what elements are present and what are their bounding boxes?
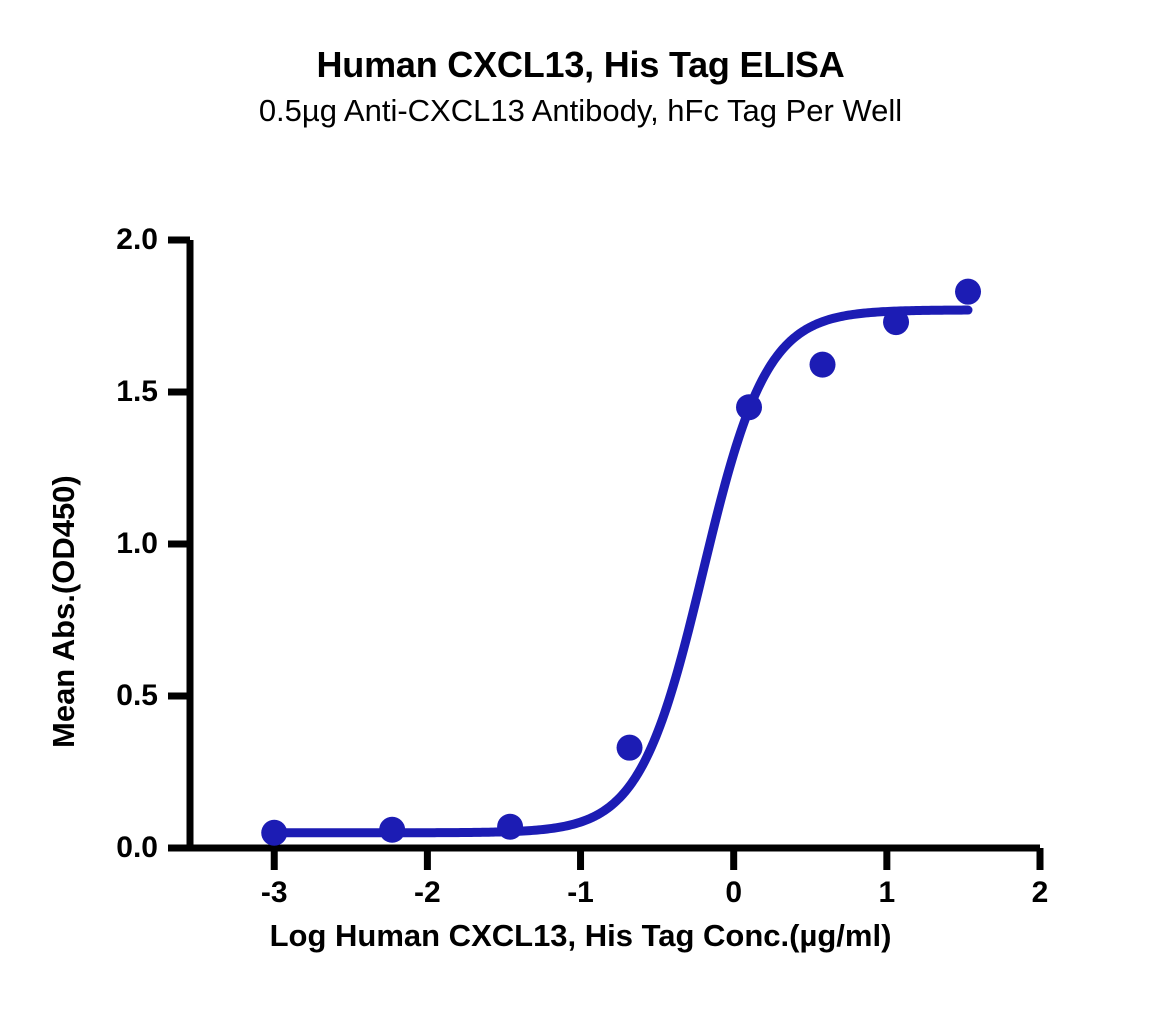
data-point	[261, 820, 287, 846]
data-point	[497, 814, 523, 840]
data-point	[617, 735, 643, 761]
data-point-group	[261, 279, 981, 846]
chart-figure: Human CXCL13, His Tag ELISA 0.5µg Anti-C…	[0, 0, 1161, 1017]
data-point	[810, 352, 836, 378]
data-point	[955, 279, 981, 305]
plot-area	[0, 0, 1161, 1017]
axis-spines	[187, 240, 1040, 848]
data-point	[736, 394, 762, 420]
data-point	[379, 817, 405, 843]
data-point	[883, 309, 909, 335]
